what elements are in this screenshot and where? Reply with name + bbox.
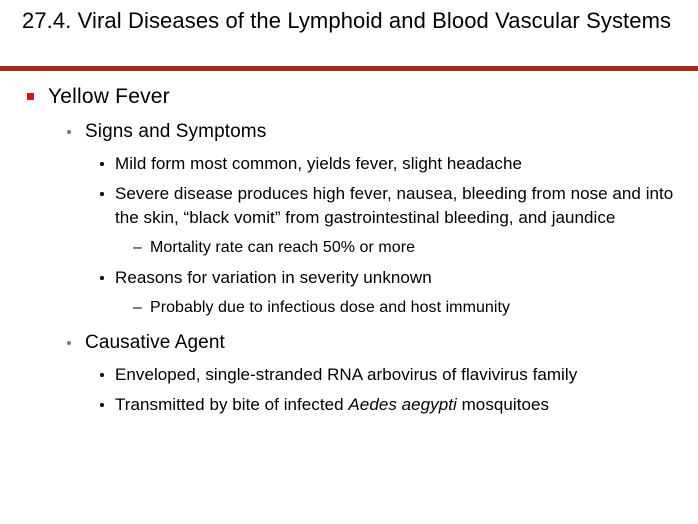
bullet-level1-label: Yellow Fever (48, 82, 698, 112)
title-divider-rule (0, 66, 698, 71)
dot-bullet-icon (100, 192, 104, 196)
dot-bullet-icon (100, 373, 104, 377)
bullet-level3-transmitted-by-bite: Transmitted by bite of infected Aedes ae… (0, 393, 698, 417)
bullet-level2-signs-and-symptoms: Signs and Symptoms (0, 118, 698, 146)
bullet-level4-label: Probably due to infectious dose and host… (150, 296, 690, 320)
page-title: 27.4. Viral Diseases of the Lymphoid and… (22, 6, 674, 35)
bullet-level3-label: Mild form most common, yields fever, sli… (115, 152, 690, 176)
bullet-level2-label: Causative Agent (85, 329, 698, 357)
transmitted-prefix-text: Transmitted by bite of infected (115, 395, 348, 414)
bullet-level4-label: Mortality rate can reach 50% or more (150, 236, 690, 260)
transmitted-suffix-text: mosquitoes (457, 395, 549, 414)
spacer (0, 320, 698, 329)
bullet-level4-infectious-dose: – Probably due to infectious dose and ho… (0, 296, 698, 320)
bullet-level4-mortality-rate: – Mortality rate can reach 50% or more (0, 236, 698, 260)
bullet-level3-mild-form: Mild form most common, yields fever, sli… (0, 152, 698, 176)
bullet-level3-enveloped-rna: Enveloped, single-stranded RNA arbovirus… (0, 363, 698, 387)
slide-body: Yellow Fever Signs and Symptoms Mild for… (0, 82, 698, 417)
bullet-level3-label: Transmitted by bite of infected Aedes ae… (115, 393, 690, 417)
bullet-level3-severe-disease: Severe disease produces high fever, naus… (0, 182, 698, 230)
bullet-level3-reasons-variation: Reasons for variation in severity unknow… (0, 266, 698, 290)
bullet-level3-label: Severe disease produces high fever, naus… (115, 182, 690, 230)
dash-bullet-icon: – (133, 296, 142, 320)
slide-title-block: 27.4. Viral Diseases of the Lymphoid and… (22, 6, 674, 35)
bullet-level2-causative-agent: Causative Agent (0, 329, 698, 357)
species-name-aedes-aegypti: Aedes aegypti (348, 395, 456, 414)
square-bullet-icon (27, 93, 34, 100)
dot-bullet-icon (67, 341, 71, 345)
dash-bullet-icon: – (133, 236, 142, 260)
bullet-level1-yellow-fever: Yellow Fever (0, 82, 698, 112)
dot-bullet-icon (100, 403, 104, 407)
dot-bullet-icon (67, 130, 71, 134)
bullet-level3-label: Reasons for variation in severity unknow… (115, 266, 690, 290)
bullet-level3-label: Enveloped, single-stranded RNA arbovirus… (115, 363, 690, 387)
dot-bullet-icon (100, 276, 104, 280)
slide-canvas: 27.4. Viral Diseases of the Lymphoid and… (0, 0, 698, 524)
bullet-level2-label: Signs and Symptoms (85, 118, 698, 146)
dot-bullet-icon (100, 162, 104, 166)
